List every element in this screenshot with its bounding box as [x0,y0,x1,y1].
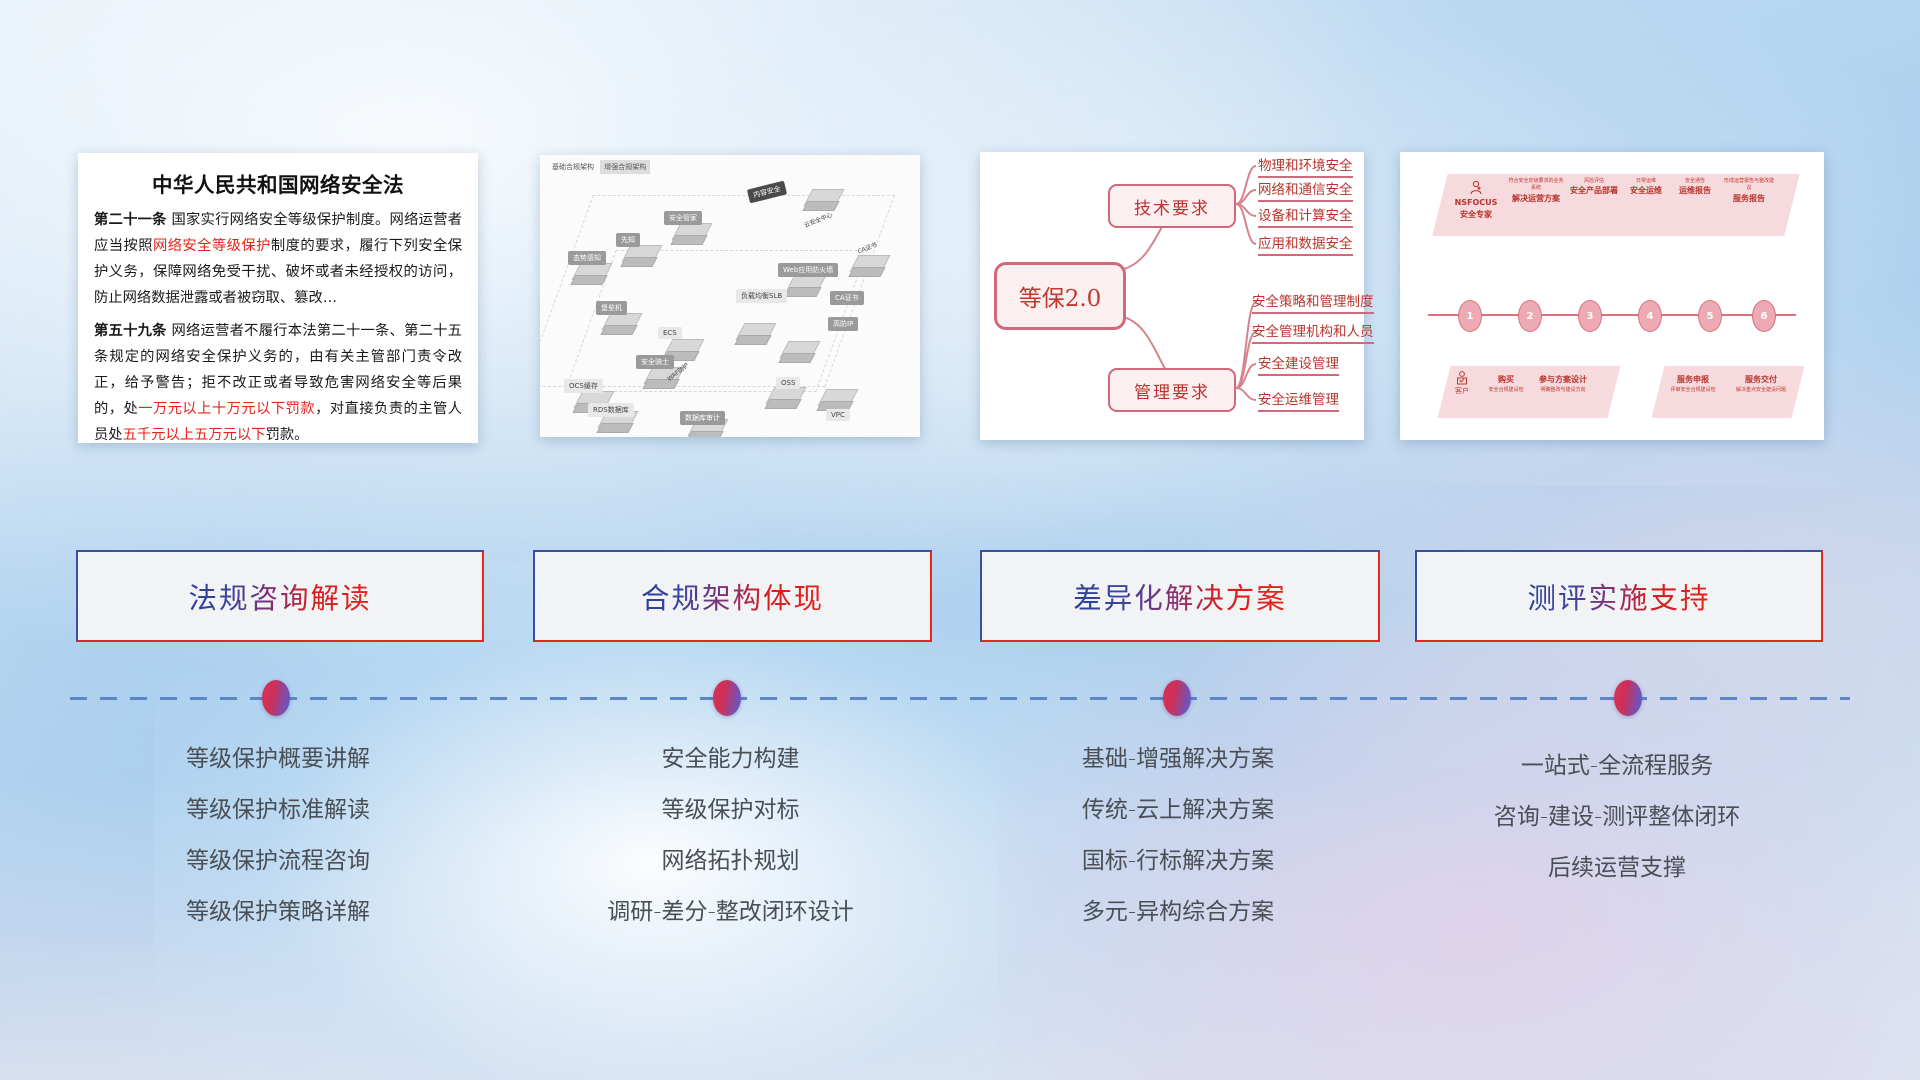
roadmap-customer: 客户 [1442,370,1482,396]
roadmap-band-item-top: 形成运营报告与整改建议 [1722,178,1776,193]
roadmap-bottom-label: 服务申报 [1662,374,1724,386]
roadmap-step: 5 [1698,300,1722,332]
card-mindmap-dengbao: 等保2.0 技术要求 管理要求 物理和环境安全 网络和通信安全 设备和计算安全 … [980,152,1364,440]
arch-server-icon [622,245,656,269]
list-item: 基础-增强解决方案 [980,748,1376,771]
list-item: 等级保护策略详解 [76,901,480,924]
timeline-dot-3[interactable] [1163,680,1191,716]
timeline-dot-4[interactable] [1614,680,1642,716]
arch-server-icon [786,275,820,299]
heading-box-3[interactable]: 差异化解决方案 [980,550,1380,642]
architecture-diagram: 基础合规架构 增强合规架构 内容安全 态势感知 先知 安全管家 堡垒机 ECS … [540,155,920,437]
roadmap-step: 4 [1638,300,1662,332]
roadmap-step: 1 [1458,300,1482,332]
roadmap-band-item-top: 风险评估 [1568,178,1620,185]
arch-node: 堡垒机 [596,301,627,315]
customer-person-icon [1455,370,1469,386]
timeline-dashed-line [70,697,1850,700]
roadmap-customer-label: 客户 [1455,387,1469,395]
roadmap-bottom-sub: 明确整改与建设方向 [1540,387,1585,393]
roadmap-bottom-item: 服务交付 解决重点安全建设问题 [1730,374,1792,394]
timeline-dot-2[interactable] [713,680,741,716]
law-paragraph: 第五十九条 网络运营者不履行本法第二十一条、第二十五条规定的网络安全保护义务的，… [94,318,462,448]
roadmap-band-item: 风险评估 安全产品部署 [1568,178,1620,197]
list-item: 多元-异构综合方案 [980,901,1376,924]
heading-box-1[interactable]: 法规咨询解读 [76,550,484,642]
law-run: 罚款。 [266,427,309,443]
list-column-1: 等级保护概要讲解 等级保护标准解读 等级保护流程咨询 等级保护策略详解 [76,748,480,952]
list-item: 国标-行标解决方案 [980,850,1376,873]
arch-node: RDS数据库 [588,403,634,417]
law-body: 第二十一条 国家实行网络安全等级保护制度。网络运营者应当按照网络安全等级保护制度… [78,198,478,448]
heading-box-2[interactable]: 合规架构体现 [533,550,932,642]
law-run-highlight: 一万元以上十万元以下罚款 [138,401,315,417]
law-article-number: 第五十九条 [94,323,167,339]
list-item: 等级保护标准解读 [76,799,480,822]
roadmap-step: 3 [1578,300,1602,332]
law-article-number: 第二十一条 [94,212,167,228]
mindmap-leaf: 安全策略和管理制度 [1252,290,1374,314]
arch-node: 高防IP [828,317,858,331]
arch-node: 负载均衡SLB [736,289,787,303]
architecture-tabs: 基础合规架构 增强合规架构 [548,160,650,174]
roadmap-brand: NSFOCUS 安全专家 [1446,180,1506,220]
roadmap-band-item: 符合安全定级要求的业务系统 解决运营方案 [1508,178,1564,204]
mindmap-leaf: 设备和计算安全 [1258,204,1353,228]
mindmap-leaf: 安全运维管理 [1258,388,1339,412]
arch-server-icon [672,223,706,247]
roadmap-axis [1428,314,1796,316]
list-item: 等级保护对标 [533,799,928,822]
arch-node: OSS [776,377,800,389]
timeline [70,697,1850,700]
mindmap-leaf: 物理和环境安全 [1258,154,1353,178]
list-item: 等级保护流程咨询 [76,850,480,873]
law-run-highlight: 网络安全等级保护 [153,238,271,254]
law-run-highlight: 五千元以上五万元以下 [123,427,266,443]
arch-node: Web应用防火墙 [778,263,838,277]
arch-node: CA证书 [830,291,864,305]
roadmap-band-item-label: 解决运营方案 [1508,193,1564,205]
mindmap-leaf: 安全管理机构和人员 [1252,320,1374,344]
list-item: 等级保护概要讲解 [76,748,480,771]
mindmap-branch-technical: 技术要求 [1108,184,1236,228]
list-item: 网络拓扑规划 [533,850,928,873]
arch-node: ECS [658,327,682,339]
roadmap-bottom-label: 购买 [1484,374,1528,386]
roadmap-bottom-sub: 评审安全合规建设包 [1670,387,1715,393]
roadmap-step: 2 [1518,300,1542,332]
roadmap-band-item-label: 服务报告 [1722,193,1776,205]
mindmap: 等保2.0 技术要求 管理要求 物理和环境安全 网络和通信安全 设备和计算安全 … [980,152,1364,440]
card-row: 中华人民共和国网络安全法 第二十一条 国家实行网络安全等级保护制度。网络运营者应… [0,0,1920,300]
heading-label: 测评实施支持 [1527,576,1710,617]
tab-enhanced-architecture[interactable]: 增强合规架构 [600,160,650,174]
law-title: 中华人民共和国网络安全法 [78,168,478,198]
mindmap-branch-management: 管理要求 [1108,368,1236,412]
arch-node: 先知 [616,233,640,247]
roadmap-band-item: 安全通告 运维报告 [1672,178,1718,197]
list-item: 调研-差分-整改闭环设计 [533,901,928,924]
card-cybersecurity-law: 中华人民共和国网络安全法 第二十一条 国家实行网络安全等级保护制度。网络运营者应… [78,153,478,443]
expert-person-icon [1468,180,1484,196]
timeline-dot-1[interactable] [262,680,290,716]
roadmap-bottom-item: 购买 安全合规建设包 [1484,374,1528,394]
card-nsfocus-roadmap: NSFOCUS 安全专家 符合安全定级要求的业务系统 解决运营方案 风险评估 安… [1400,152,1824,440]
arch-server-icon [780,341,814,365]
arch-node: 安全管家 [664,211,702,225]
arch-server-icon [736,323,770,347]
arch-node: 安全骑士 [636,355,674,369]
roadmap-band-item-top: 安全通告 [1672,178,1718,185]
heading-label: 合规架构体现 [641,576,824,617]
roadmap-step: 6 [1752,300,1776,332]
roadmap-bottom-label: 服务交付 [1730,374,1792,386]
heading-box-4[interactable]: 测评实施支持 [1415,550,1823,642]
law-paragraph: 第二十一条 国家实行网络安全等级保护制度。网络运营者应当按照网络安全等级保护制度… [94,207,462,311]
mindmap-leaf: 网络和通信安全 [1258,178,1353,202]
card-compliance-architecture: 基础合规架构 增强合规架构 内容安全 态势感知 先知 安全管家 堡垒机 ECS … [540,155,920,437]
mindmap-root: 等保2.0 [994,262,1126,330]
roadmap-bottom-label: 参与方案设计 [1532,374,1594,386]
roadmap: NSFOCUS 安全专家 符合安全定级要求的业务系统 解决运营方案 风险评估 安… [1400,152,1824,440]
roadmap-band-item: 形成运营报告与整改建议 服务报告 [1722,178,1776,204]
arch-server-icon [766,387,800,411]
list-item: 安全能力构建 [533,748,928,771]
arch-node: OCS缓存 [564,379,603,393]
roadmap-bottom-item: 服务申报 评审安全合规建设包 [1662,374,1724,394]
list-column-3: 基础-增强解决方案 传统-云上解决方案 国标-行标解决方案 多元-异构综合方案 [980,748,1376,952]
roadmap-band-item-label: 运维报告 [1672,185,1718,197]
list-item: 咨询-建设-测评整体闭环 [1415,806,1819,829]
tab-basic-architecture[interactable]: 基础合规架构 [548,160,598,174]
heading-label: 差异化解决方案 [1073,576,1287,617]
roadmap-band-item: 日常运维 安全运维 [1624,178,1668,197]
mindmap-leaf: 安全建设管理 [1258,352,1339,376]
arch-server-icon [602,313,636,337]
roadmap-band-item-label: 安全运维 [1624,185,1668,197]
roadmap-bottom-sub: 安全合规建设包 [1488,387,1523,393]
list-column-4: 一站式-全流程服务 咨询-建设-测评整体闭环 后续运营支撑 [1415,755,1819,908]
arch-node: 数据库审计 [680,411,725,425]
list-item: 一站式-全流程服务 [1415,755,1819,778]
arch-node: VPC [826,409,850,421]
mindmap-leaf: 应用和数据安全 [1258,232,1353,256]
heading-label: 法规咨询解读 [188,576,371,617]
list-item: 传统-云上解决方案 [980,799,1376,822]
roadmap-brand-name: NSFOCUS [1446,197,1506,209]
arch-server-icon [572,263,606,287]
list-column-2: 安全能力构建 等级保护对标 网络拓扑规划 调研-差分-整改闭环设计 [533,748,928,952]
roadmap-brand-sub: 安全专家 [1446,209,1506,221]
roadmap-bottom-sub: 解决重点安全建设问题 [1736,387,1786,393]
list-item: 后续运营支撑 [1415,857,1819,880]
roadmap-band-item-label: 安全产品部署 [1568,185,1620,197]
roadmap-bottom-item: 参与方案设计 明确整改与建设方向 [1532,374,1594,394]
roadmap-band-item-top: 日常运维 [1624,178,1668,185]
roadmap-band-item-top: 符合安全定级要求的业务系统 [1508,178,1564,193]
arch-node: 态势感知 [568,251,606,265]
